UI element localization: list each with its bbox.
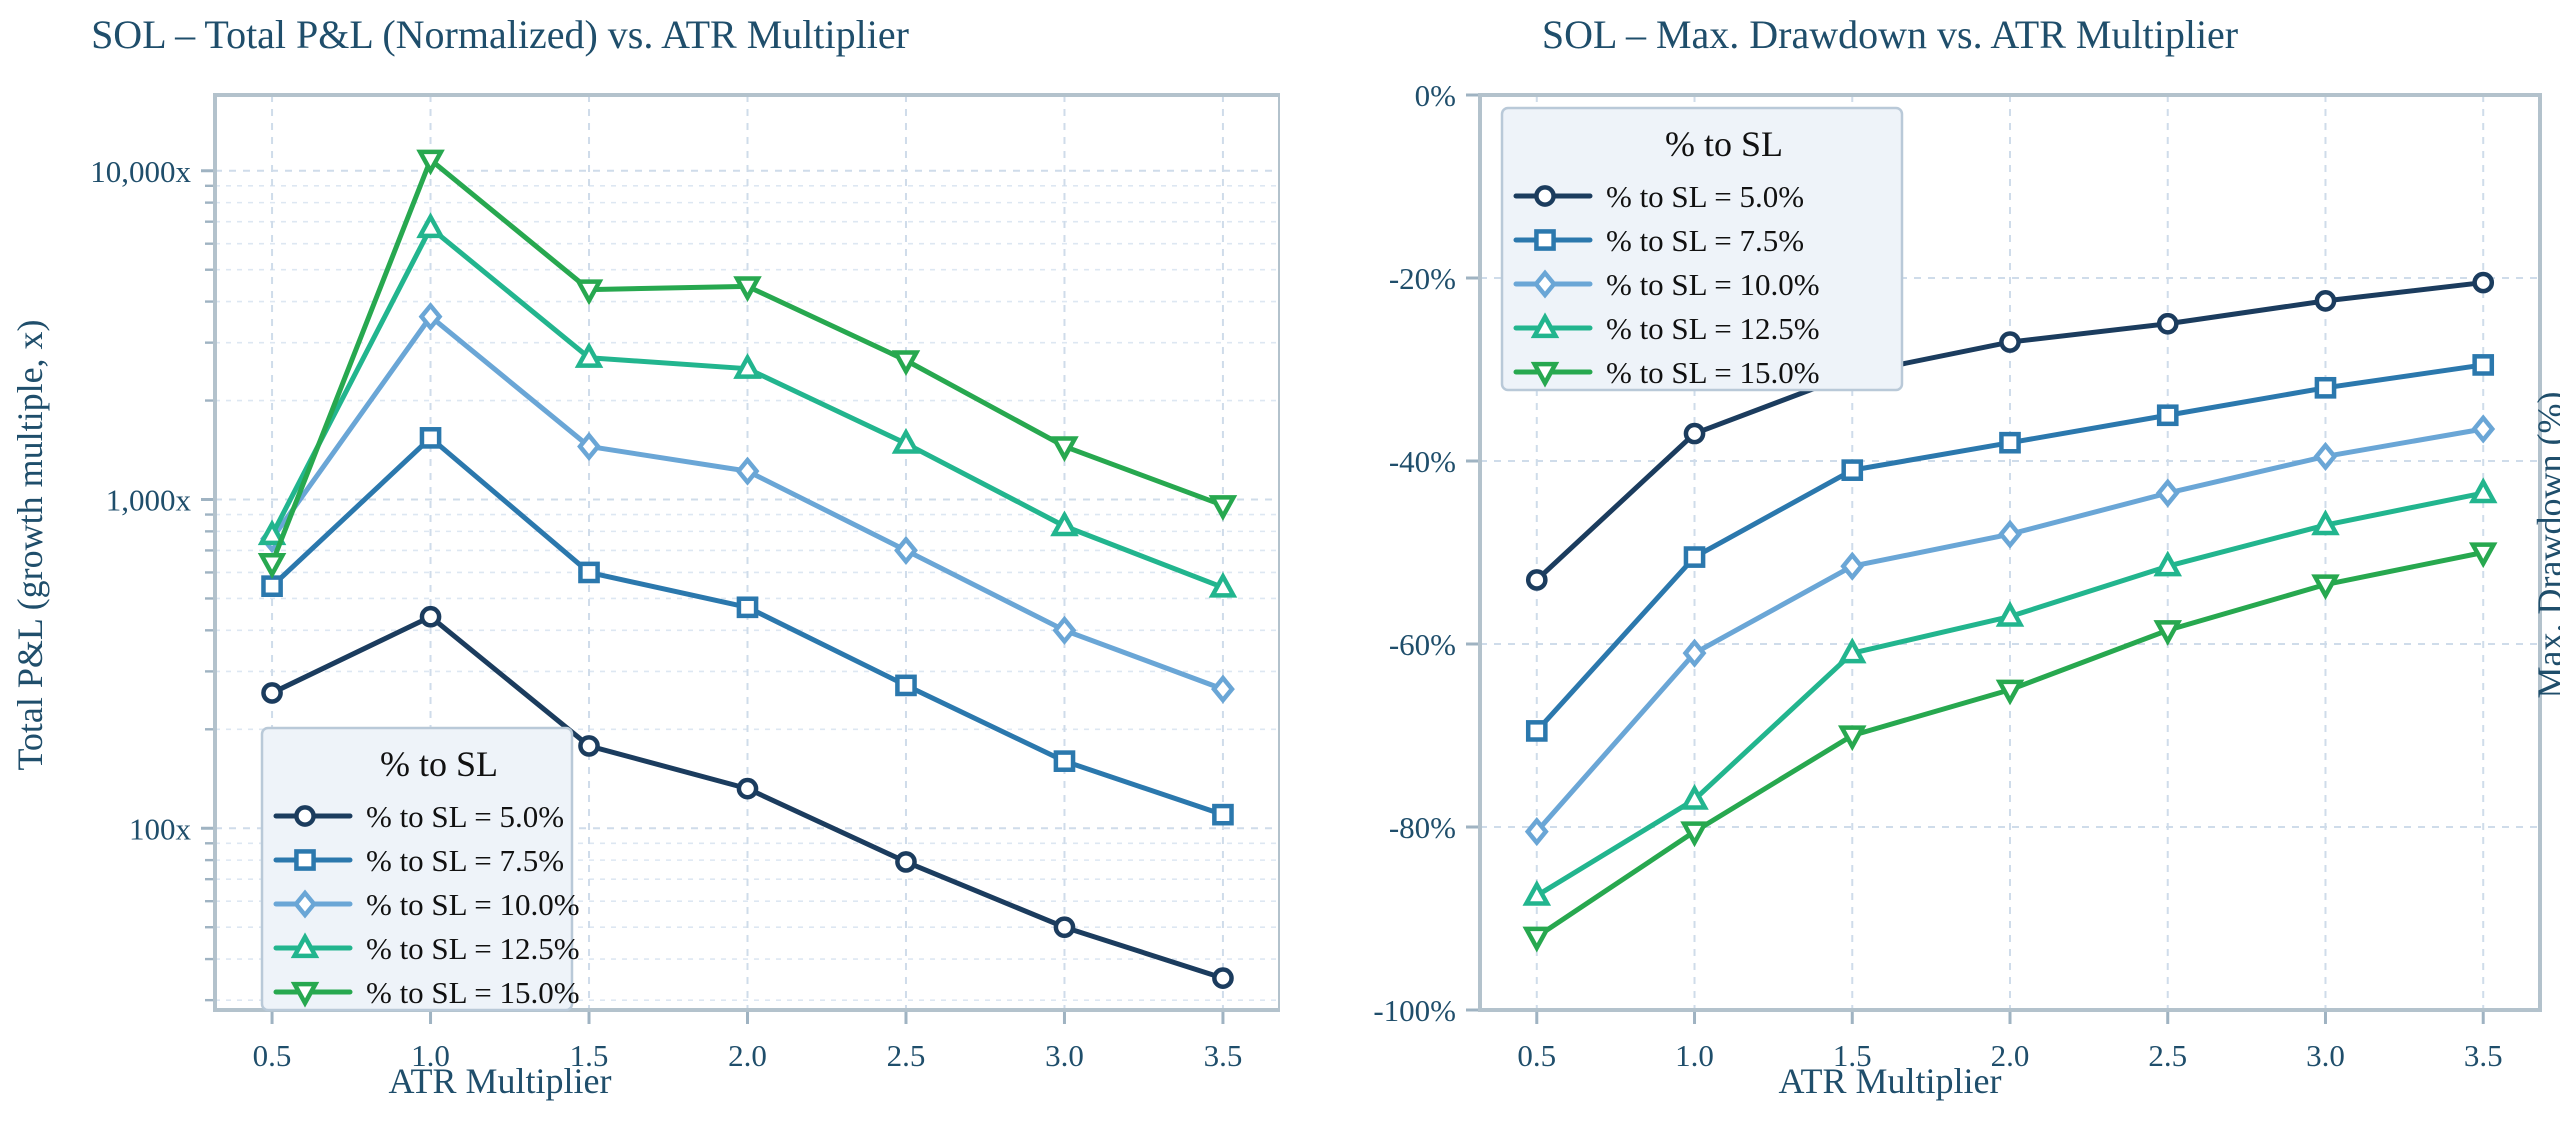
chart-panel-pnl: SOL – Total P&L (Normalized) vs. ATR Mul…: [0, 0, 1280, 1138]
data-point-sl5: [580, 737, 597, 754]
data-point-sl75: [1844, 462, 1861, 479]
data-point-sl75: [2317, 379, 2334, 396]
x-tick-label: 3.5: [2464, 1038, 2503, 1073]
data-point-sl75: [2001, 434, 2018, 451]
legend-entry-label: % to SL = 10.0%: [366, 887, 580, 922]
chart-panel-drawdown: SOL – Max. Drawdown vs. ATR Multiplier 0…: [1280, 0, 2560, 1138]
x-tick-label: 3.0: [2306, 1038, 2345, 1073]
y-tick-label: -60%: [1389, 627, 1456, 662]
data-point-sl75: [1056, 753, 1073, 770]
data-point-sl5: [2159, 315, 2176, 332]
legend-entry-label: % to SL = 12.5%: [366, 931, 580, 966]
legend-entry-label: % to SL = 5.0%: [1606, 179, 1804, 214]
data-point-sl5: [263, 684, 280, 701]
drawdown-x-axis-label: ATR Multiplier: [1779, 1061, 2002, 1101]
x-tick-label: 0.5: [1517, 1038, 1556, 1073]
legend[interactable]: % to SL% to SL = 5.0%% to SL = 7.5%% to …: [1502, 108, 1902, 390]
pnl-chart-svg: SOL – Total P&L (Normalized) vs. ATR Mul…: [0, 0, 1280, 1138]
legend-title: % to SL: [1665, 124, 1783, 164]
legend[interactable]: % to SL% to SL = 5.0%% to SL = 7.5%% to …: [262, 728, 580, 1010]
data-point-sl75: [1214, 806, 1231, 823]
data-point-sl75: [422, 429, 439, 446]
y-tick-label: -100%: [1373, 993, 1456, 1028]
x-tick-label: 3.5: [1204, 1038, 1243, 1073]
data-point-sl75: [897, 677, 914, 694]
pnl-y-axis-label: Total P&L (growth multiple, x): [10, 319, 50, 770]
pnl-x-axis-label: ATR Multiplier: [389, 1061, 612, 1101]
legend-title: % to SL: [380, 744, 498, 784]
legend-entry-label: % to SL = 15.0%: [366, 975, 580, 1010]
legend-entry-label: % to SL = 12.5%: [1606, 311, 1820, 346]
data-point-sl75: [1686, 548, 1703, 565]
data-point-sl5: [2475, 274, 2492, 291]
legend-swatch-marker-sl75: [296, 851, 313, 868]
y-tick-label: 10,000x: [90, 154, 191, 189]
data-point-sl75: [1528, 722, 1545, 739]
x-tick-label: 2.0: [728, 1038, 767, 1073]
y-tick-label: -80%: [1389, 810, 1456, 845]
legend-entry-label: % to SL = 10.0%: [1606, 267, 1820, 302]
data-point-sl75: [263, 578, 280, 595]
x-tick-label: 0.5: [253, 1038, 292, 1073]
legend-swatch-marker-sl75: [1536, 231, 1553, 248]
y-tick-label: 0%: [1415, 78, 1456, 113]
data-point-sl5: [739, 780, 756, 797]
drawdown-chart-svg: SOL – Max. Drawdown vs. ATR Multiplier 0…: [1280, 0, 2560, 1138]
data-point-sl5: [1528, 571, 1545, 588]
figure-canvas: SOL – Total P&L (Normalized) vs. ATR Mul…: [0, 0, 2560, 1138]
data-point-sl5: [2001, 333, 2018, 350]
y-tick-label: 100x: [129, 811, 192, 846]
y-tick-label: -20%: [1389, 261, 1456, 296]
drawdown-chart-title: SOL – Max. Drawdown vs. ATR Multiplier: [1542, 12, 2238, 57]
pnl-chart-title: SOL – Total P&L (Normalized) vs. ATR Mul…: [91, 12, 909, 57]
y-tick-label: 1,000x: [106, 483, 192, 518]
legend-entry-label: % to SL = 15.0%: [1606, 355, 1820, 390]
data-point-sl75: [739, 599, 756, 616]
legend-swatch-marker-sl5: [296, 807, 313, 824]
data-point-sl75: [580, 564, 597, 581]
data-point-sl75: [2475, 356, 2492, 373]
data-point-sl5: [1214, 970, 1231, 987]
x-tick-label: 2.5: [2148, 1038, 2187, 1073]
legend-swatch-marker-sl5: [1536, 187, 1553, 204]
data-point-sl5: [1686, 425, 1703, 442]
data-point-sl5: [422, 608, 439, 625]
data-point-sl75: [2159, 407, 2176, 424]
legend-entry-label: % to SL = 5.0%: [366, 799, 564, 834]
data-point-sl5: [1056, 919, 1073, 936]
x-tick-label: 3.0: [1045, 1038, 1084, 1073]
x-tick-label: 2.5: [887, 1038, 926, 1073]
drawdown-y-axis-label: Max. Drawdown (%): [2530, 392, 2560, 699]
data-point-sl5: [897, 853, 914, 870]
legend-entry-label: % to SL = 7.5%: [366, 843, 564, 878]
x-tick-label: 1.0: [1675, 1038, 1714, 1073]
data-point-sl5: [2317, 292, 2334, 309]
legend-entry-label: % to SL = 7.5%: [1606, 223, 1804, 258]
y-tick-label: -40%: [1389, 444, 1456, 479]
